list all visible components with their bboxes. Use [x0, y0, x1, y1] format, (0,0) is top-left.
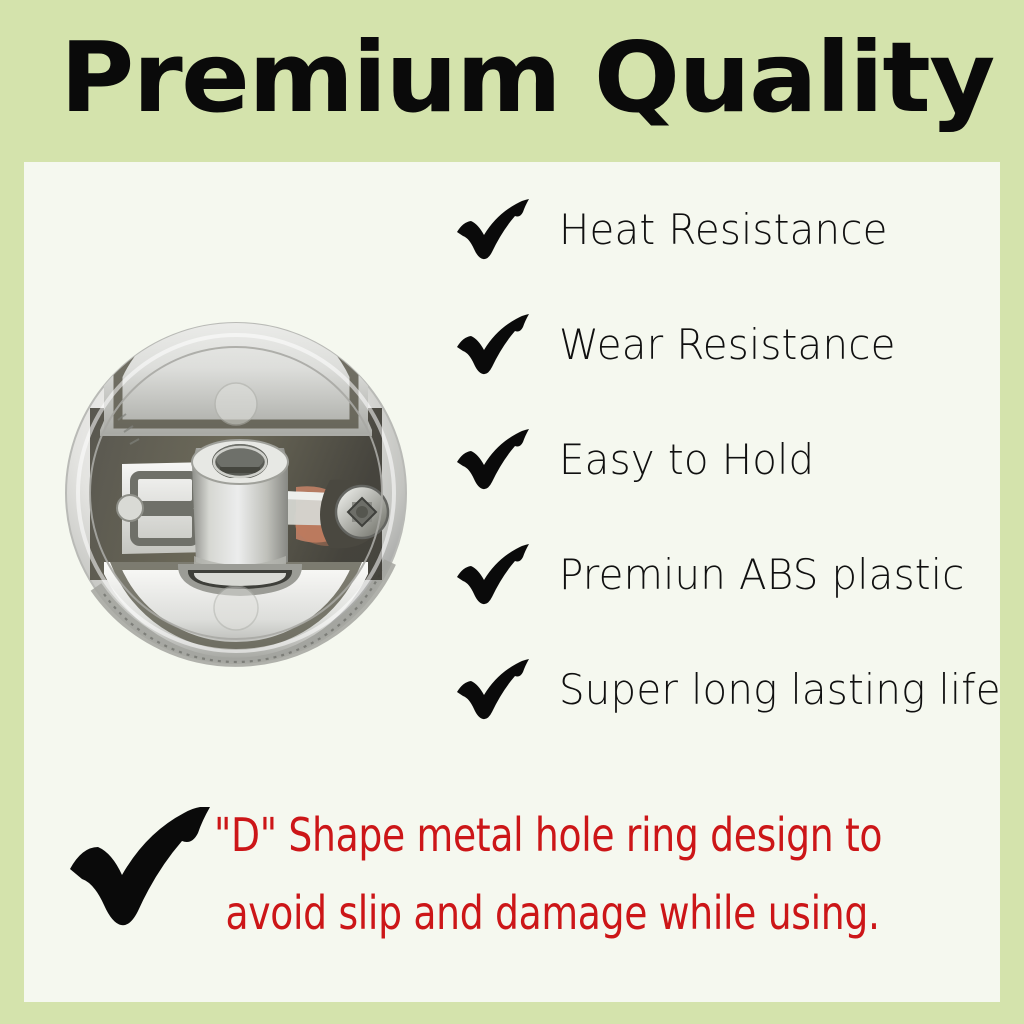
page-title: Premium Quality	[60, 18, 1024, 138]
large-check-tick-icon	[66, 807, 212, 941]
feature-label: Super long lasting life	[559, 654, 1001, 726]
feature-item-premium-abs-plastic: Premiun ABS plastic	[454, 539, 1000, 654]
feature-label: Heat Resistance	[559, 194, 888, 266]
feature-item-wear-resistance: Wear Resistance	[454, 309, 1000, 424]
feature-item-super-long-lasting-life: Super long lasting life	[454, 654, 1000, 769]
check-tick-icon	[454, 309, 532, 381]
feature-item-heat-resistance: Heat Resistance	[454, 194, 1000, 309]
feature-list: Heat Resistance Wear Resistance Easy to …	[454, 194, 1000, 769]
knob-illustration	[60, 312, 412, 672]
highlight-callout: "D" Shape metal hole ring design to avoi…	[44, 792, 984, 972]
feature-item-easy-to-hold: Easy to Hold	[454, 424, 1000, 539]
highlight-line-2: avoid slip and damage while using.	[214, 874, 977, 952]
product-feature-poster: Premium Quality	[0, 0, 1024, 1024]
knob-back-photo	[60, 312, 412, 672]
check-tick-icon	[454, 654, 532, 726]
check-tick-icon	[454, 424, 532, 496]
feature-label: Premiun ABS plastic	[559, 539, 965, 611]
highlight-text: "D" Shape metal hole ring design to avoi…	[214, 796, 977, 952]
check-tick-icon	[454, 194, 532, 266]
highlight-line-1: "D" Shape metal hole ring design to	[214, 796, 977, 874]
content-card: Heat Resistance Wear Resistance Easy to …	[24, 162, 1000, 1002]
feature-label: Wear Resistance	[559, 309, 896, 381]
check-tick-icon	[454, 539, 532, 611]
feature-label: Easy to Hold	[559, 424, 814, 496]
title-band: Premium Quality	[0, 0, 1024, 162]
